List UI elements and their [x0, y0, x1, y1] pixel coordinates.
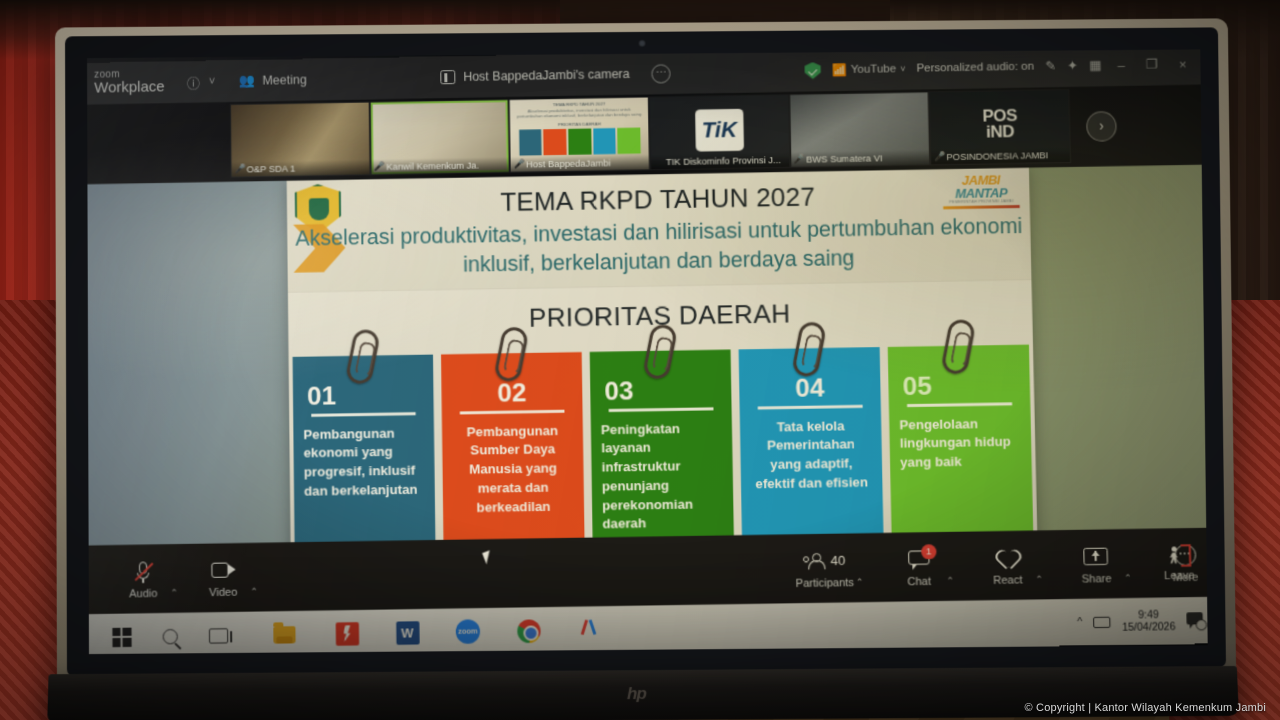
video-label: Video [209, 586, 237, 599]
diskominfo-logo: TiK [695, 109, 744, 152]
filmstrip-next-button[interactable]: › [1086, 111, 1117, 142]
restore-button[interactable]: ❐ [1141, 56, 1163, 72]
heart-reaction-icon [996, 544, 1019, 571]
active-speaker-indicator: Host BappedaJambi's camera ⋯ [307, 61, 805, 89]
priority-number: 04 [749, 373, 871, 403]
audio-button[interactable]: Audio [114, 558, 173, 600]
meeting-label: Meeting [262, 73, 307, 88]
youtube-label: YouTube [851, 63, 897, 76]
slide-header: JAMBI MANTAP PEMERINTAH PROVINSI JAMBI T… [287, 168, 1032, 293]
tk-logo-text: TiK [702, 117, 738, 144]
mini-slide-prioritas: PRIORITAS DAERAH [514, 120, 644, 128]
participant-name: POSINDONESIA JAMBI [931, 146, 1070, 164]
webcam-icon [639, 40, 646, 47]
priority-text: Tata kelola Pemerintahan yang adaptif, e… [750, 416, 873, 494]
mini-card [568, 128, 591, 154]
zoom-workplace-logo: zoom Workplace [94, 69, 180, 97]
priority-text: Peningkatan layanan infrastruktur penunj… [601, 419, 724, 534]
photograph-of-laptop: zoom Workplace ⓘ ˅ 👥 Meeting H [0, 0, 1280, 720]
snipping-tool-button[interactable] [565, 607, 612, 652]
leave-label: Leave [1164, 569, 1195, 582]
leave-door-icon [1166, 544, 1191, 567]
priority-number: 01 [303, 381, 424, 410]
participants-button[interactable]: 40 Participants [791, 547, 858, 590]
chevron-down-icon: ˅ [900, 64, 905, 74]
task-view-icon [208, 628, 227, 643]
folder-icon [273, 626, 295, 644]
priority-text: Pengelolaan lingkungan hidup yang baik [899, 414, 1022, 473]
video-button[interactable]: Video [194, 557, 253, 599]
participants-label: Participants [796, 576, 854, 589]
share-screen-button[interactable]: Share [1066, 543, 1126, 586]
windows-logo-icon [112, 627, 131, 647]
slide-subtitle: Akselerasi produktivitas, investasi dan … [293, 212, 1025, 282]
priority-card: 05 Pengelolaan lingkungan hidup yang bai… [888, 345, 1034, 541]
priority-divider [907, 403, 1012, 407]
chat-icon: 1 [908, 546, 930, 573]
mini-priority-cards [519, 128, 641, 156]
show-hidden-icons-caret-icon[interactable]: ^ [1077, 616, 1083, 628]
camera-badge-icon [440, 70, 455, 84]
clock-time: 9:49 [1122, 608, 1176, 621]
leave-meeting-button[interactable]: Leave [1163, 544, 1194, 582]
priority-text: Pembangunan Sumber Daya Manusia yang mer… [452, 421, 574, 517]
zoom-icon: zoom [456, 619, 481, 644]
keyboard-layout-icon[interactable] [1093, 616, 1111, 627]
pos-logo-line2: iND [983, 124, 1018, 140]
sparkle-ai-icon[interactable]: ✦ [1067, 58, 1078, 74]
laptop-screen: zoom Workplace ⓘ ˅ 👥 Meeting H [87, 49, 1208, 654]
priority-card: 03 Peningkatan layanan infrastruktur pen… [590, 350, 735, 560]
pos-indonesia-logo: POS iND [982, 108, 1017, 140]
priority-divider [311, 412, 415, 416]
priority-divider [460, 410, 565, 414]
notification-center-icon[interactable] [1186, 612, 1206, 630]
chat-unread-badge: 1 [921, 544, 937, 559]
participant-name: TIK Diskominfo Provinsi J... [651, 151, 789, 169]
participant-name: O&P SDA 1 [232, 159, 370, 177]
zoom-taskbar-button[interactable]: zoom [444, 609, 491, 654]
share-screen-icon [1084, 543, 1109, 570]
meeting-tab[interactable]: 👥 Meeting [239, 72, 307, 89]
pdf-reader-button[interactable] [324, 611, 371, 654]
scissors-icon [577, 619, 601, 641]
react-label: React [993, 574, 1022, 587]
chrome-button[interactable] [505, 608, 552, 653]
priority-number: 05 [898, 371, 1020, 401]
hp-logo: hp [627, 684, 646, 704]
zoom-application-window: zoom Workplace ⓘ ˅ 👥 Meeting H [87, 49, 1208, 654]
mini-card [543, 129, 566, 155]
taskbar-search-button[interactable] [146, 614, 193, 655]
title-bar-right-group: 📶 YouTube ˅ Personalized audio: on ✎ ✦ ▦… [805, 55, 1192, 79]
pdf-reader-icon [335, 622, 358, 646]
people-icon: 👥 [239, 73, 255, 89]
laptop-device: zoom Workplace ⓘ ˅ 👥 Meeting H [48, 22, 1238, 720]
participant-thumbnail[interactable]: TEMA RKPD TAHUN 2027 Akselerasi produkti… [510, 98, 649, 172]
participant-thumbnail[interactable]: 🎤 BWS Sumatera VI [790, 92, 930, 166]
laptop-bezel: zoom Workplace ⓘ ˅ 👥 Meeting H [65, 27, 1226, 676]
close-button[interactable]: × [1174, 56, 1192, 71]
priority-card: 02 Pembangunan Sumber Daya Manusia yang … [441, 352, 585, 560]
taskbar-clock[interactable]: 9:49 15/04/2026 [1122, 608, 1176, 633]
participants-icon: 40 [803, 547, 845, 574]
priority-number: 02 [451, 378, 572, 407]
participant-name: Host BappedaJambi [511, 154, 649, 172]
host-camera-label: Host BappedaJambi's camera [463, 67, 630, 84]
participant-name: Kanwil Kemenkum Ja. [371, 156, 509, 174]
priority-card: 04 Tata kelola Pemerintahan yang adaptif… [739, 347, 884, 551]
task-view-button[interactable] [195, 613, 242, 654]
copyright-watermark: © Copyright | Kantor Wilayah Kemenkum Ja… [1025, 702, 1267, 714]
file-explorer-button[interactable] [261, 612, 308, 654]
info-icon[interactable]: ⓘ [187, 72, 200, 91]
react-button[interactable]: React [978, 544, 1038, 587]
camera-icon [211, 557, 235, 584]
grid-view-icon[interactable]: ▦ [1089, 57, 1102, 73]
search-icon [162, 628, 177, 643]
participant-thumbnail[interactable]: POS iND 🎤 POSINDONESIA JAMBI [930, 90, 1070, 164]
system-tray: ^ 9:49 15/04/2026 [1077, 608, 1208, 635]
security-shield-icon[interactable] [805, 62, 821, 79]
clock-date: 15/04/2026 [1122, 621, 1176, 634]
ellipsis-icon[interactable]: ⋯ [651, 64, 670, 83]
personalized-audio-status[interactable]: Personalized audio: on [916, 61, 1034, 75]
participant-thumbnail[interactable]: TiK TIK Diskominfo Provinsi J... [650, 95, 789, 169]
audio-label: Audio [129, 587, 157, 600]
zoom-brand-line2: Workplace [94, 79, 180, 96]
priority-divider [609, 408, 714, 412]
participant-name: BWS Sumatera VI [791, 149, 930, 167]
chrome-icon [517, 619, 541, 643]
pen-icon[interactable]: ✎ [1045, 58, 1056, 74]
priority-text: Pembangunan ekonomi yang progresif, inkl… [303, 424, 424, 501]
chevron-down-icon[interactable]: ˅ [209, 75, 216, 87]
minimize-button[interactable]: – [1112, 57, 1130, 72]
priority-divider [758, 405, 863, 409]
broadcast-icon: 📶 [832, 63, 847, 77]
mouse-cursor [482, 550, 494, 564]
word-icon: W [396, 621, 419, 645]
share-label: Share [1082, 572, 1112, 585]
word-button[interactable]: W [384, 610, 431, 654]
priority-number: 03 [600, 376, 721, 405]
participant-thumbnail[interactable]: 🎤 O&P SDA 1 [231, 103, 369, 177]
participant-thumbnail-strip: 🎤 O&P SDA 1 🎤 Kanwil Kemenkum Ja. TEMA R… [230, 89, 1071, 178]
chat-label: Chat [907, 575, 931, 588]
mini-card [617, 128, 640, 154]
mini-slide-sub: Akselerasi produktivitas, investasi dan … [514, 106, 644, 119]
participant-thumbnail[interactable]: 🎤 Kanwil Kemenkum Ja. [370, 100, 509, 174]
windows-start-button[interactable] [98, 614, 145, 654]
mini-card [519, 129, 542, 155]
chat-button[interactable]: 1 Chat [889, 546, 949, 589]
laptop-lid: zoom Workplace ⓘ ˅ 👥 Meeting H [55, 18, 1236, 683]
youtube-stream-button[interactable]: 📶 YouTube ˅ [832, 62, 906, 77]
mini-card [593, 128, 616, 154]
microphone-muted-icon [135, 558, 151, 585]
participants-count: 40 [831, 553, 846, 568]
priority-card: 01 Pembangunan ekonomi yang progresif, i… [293, 355, 436, 571]
